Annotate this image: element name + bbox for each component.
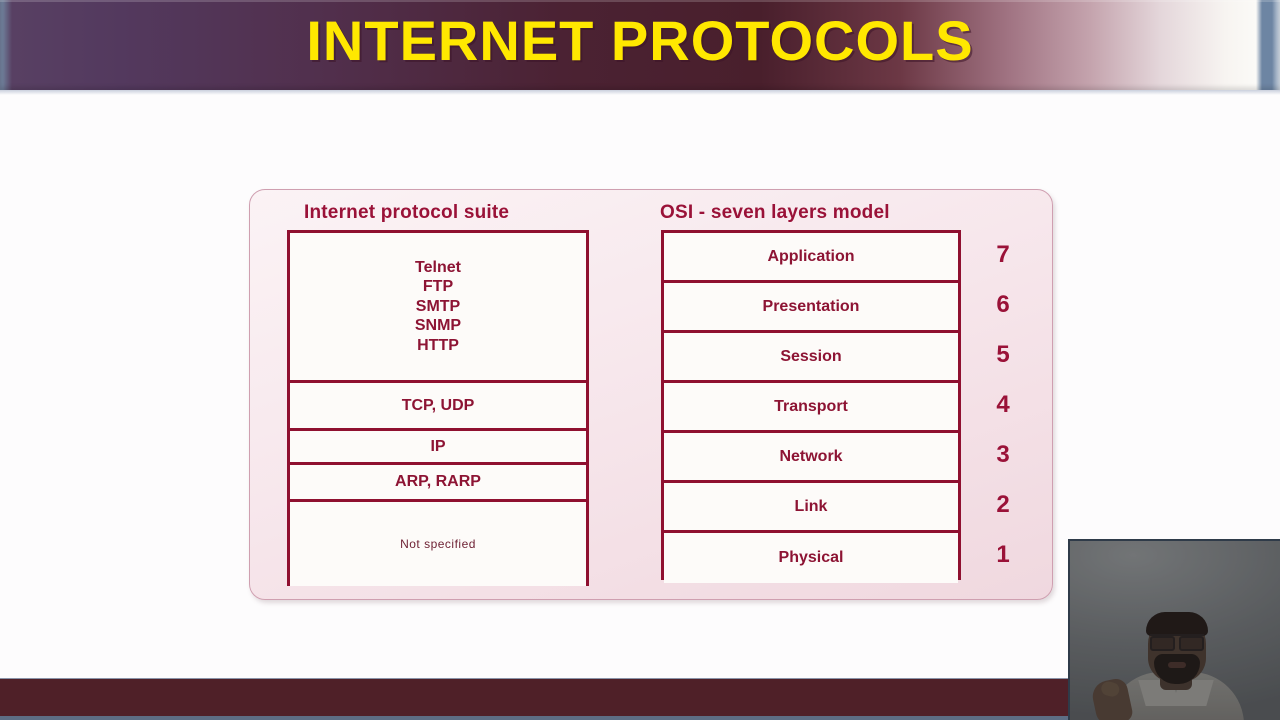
protocol-row-not-specified: Not specified <box>290 502 586 586</box>
protocol-row-address-resolution: ARP, RARP <box>290 465 586 502</box>
internet-protocol-suite-heading: Internet protocol suite <box>304 202 509 224</box>
presenter-mouth <box>1168 662 1186 668</box>
protocol-row-application-protocols: TelnetFTPSMTPSNMPHTTP <box>290 233 586 383</box>
protocol-label: SMTP <box>416 297 460 317</box>
osi-layer-numbers: 7654321 <box>973 230 1033 580</box>
internet-protocol-suite-stack: TelnetFTPSMTPSNMPHTTPTCP, UDPIPARP, RARP… <box>287 230 589 586</box>
osi-row-osi-presentation: Presentation <box>664 283 958 333</box>
slide-screen: INTERNET PROTOCOLS Internet protocol sui… <box>0 0 1280 720</box>
osi-row-osi-session: Session <box>664 333 958 383</box>
page-title: INTERNET PROTOCOLS <box>0 8 1280 73</box>
protocol-label: Telnet <box>415 258 461 278</box>
presenter-glasses <box>1150 634 1204 648</box>
protocol-label: SNMP <box>415 316 461 336</box>
presenter-figure <box>1108 610 1244 720</box>
protocol-comparison-diagram: Internet protocol suite OSI - seven laye… <box>249 189 1053 600</box>
osi-row-osi-physical: Physical <box>664 533 958 583</box>
protocol-label: HTTP <box>417 336 459 356</box>
osi-layers-stack: ApplicationPresentationSessionTransportN… <box>661 230 961 580</box>
osi-row-osi-transport: Transport <box>664 383 958 433</box>
osi-layer-number-5: 5 <box>973 330 1033 380</box>
osi-row-osi-link: Link <box>664 483 958 533</box>
presenter-hair <box>1146 612 1208 636</box>
presenter-webcam-overlay[interactable] <box>1068 539 1280 720</box>
osi-layer-number-6: 6 <box>973 280 1033 330</box>
osi-model-heading: OSI - seven layers model <box>660 202 890 224</box>
presenter-thumb <box>1100 680 1121 698</box>
osi-layer-number-2: 2 <box>973 480 1033 530</box>
protocol-row-internet-protocol: IP <box>290 431 586 465</box>
osi-layer-number-3: 3 <box>973 430 1033 480</box>
osi-row-osi-application: Application <box>664 233 958 283</box>
title-banner: INTERNET PROTOCOLS <box>0 0 1280 90</box>
protocol-row-transport-protocols: TCP, UDP <box>290 383 586 431</box>
osi-row-osi-network: Network <box>664 433 958 483</box>
osi-layer-number-4: 4 <box>973 380 1033 430</box>
protocol-label: FTP <box>423 277 453 297</box>
osi-layer-number-7: 7 <box>973 230 1033 280</box>
osi-layer-number-1: 1 <box>973 530 1033 580</box>
